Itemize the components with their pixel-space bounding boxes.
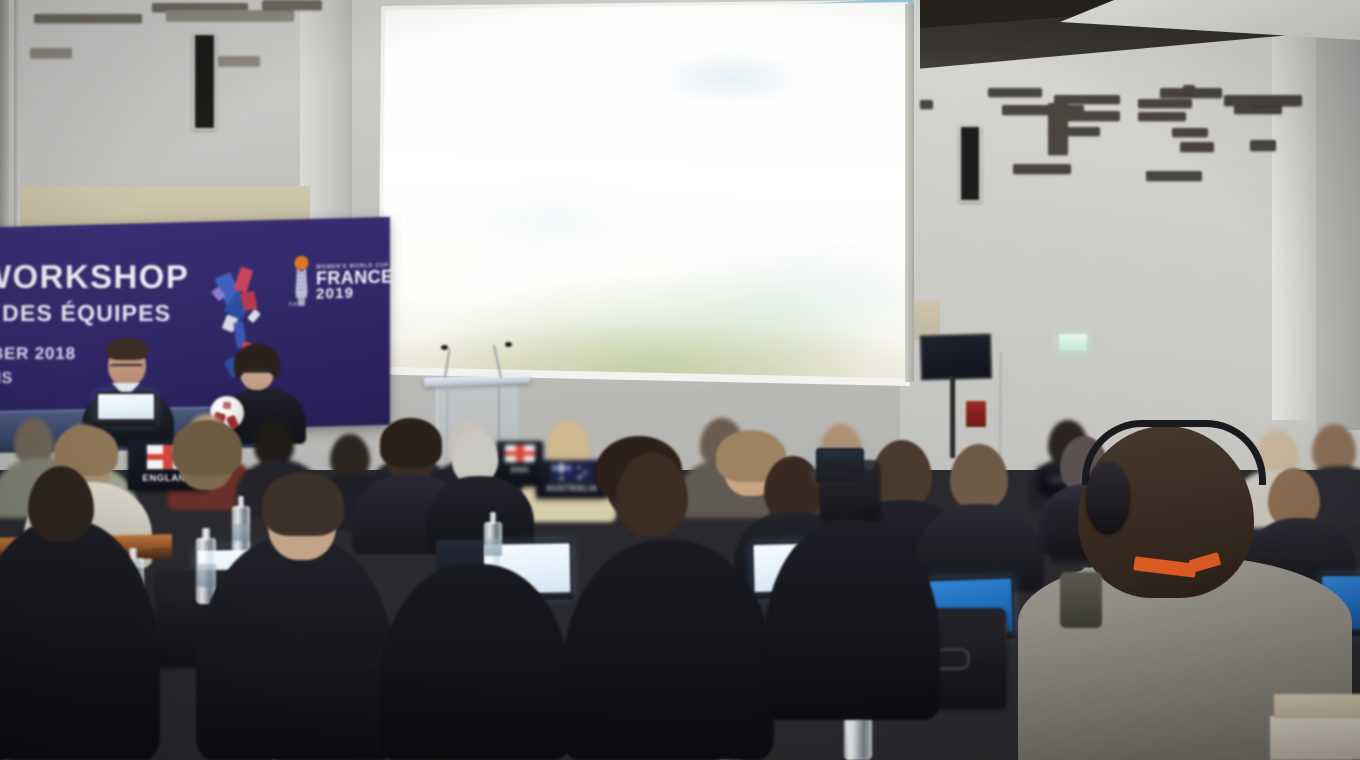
logo-fifa-mark: FIFA <box>289 302 302 308</box>
england-flag-icon <box>504 444 536 463</box>
panelist-laptop <box>96 392 152 420</box>
attendee-torso <box>426 476 534 550</box>
acoustic-bar <box>262 0 322 10</box>
flag-star <box>582 474 584 476</box>
projection-screen-image <box>382 2 908 384</box>
acoustic-bar <box>1146 171 1202 181</box>
acoustic-bar <box>988 88 1042 97</box>
acoustic-bar <box>1250 140 1276 151</box>
wwc-france-2019-logo: WOMEN'S WORLD CUP FRANCE 2019 FIFA <box>288 255 388 320</box>
panelist-male-glasses <box>110 364 143 372</box>
panelist-female-glasses <box>242 368 272 376</box>
monitor-stand <box>950 376 955 458</box>
laptop-base <box>93 419 156 426</box>
attendee-hair <box>172 420 242 476</box>
placard-label: AUSTRALIA <box>546 485 598 493</box>
acoustic-bar <box>218 56 260 66</box>
wall-speaker-left <box>193 33 216 130</box>
flag-star <box>578 466 581 469</box>
acoustic-bar <box>1060 111 1120 121</box>
acoustic-bar <box>1172 128 1208 137</box>
acoustic-bar <box>1180 142 1214 152</box>
banner-title: WORKSHOP <box>0 258 189 296</box>
banner-city: RIS <box>0 370 13 388</box>
microphone-head <box>441 345 448 350</box>
far-right-wall <box>1316 0 1360 430</box>
union-jack-canton <box>552 463 571 473</box>
door-frame <box>1000 352 1001 462</box>
headphones-earcup-icon <box>1086 462 1130 534</box>
acoustic-bar-vertical <box>1048 103 1068 155</box>
acoustic-bar <box>30 48 72 58</box>
acoustic-bar <box>1013 164 1071 174</box>
bottle-label <box>232 524 250 541</box>
acoustic-bar <box>34 14 142 23</box>
desk-surface-foreground <box>1270 716 1360 760</box>
confidence-monitor <box>919 333 992 381</box>
wall-speaker-right <box>959 125 981 202</box>
projection-screen-right-edge <box>905 4 914 382</box>
flag-star <box>578 476 581 479</box>
microphone-head <box>505 342 512 347</box>
water-bottle <box>484 512 502 568</box>
australia-flag-icon <box>551 462 593 483</box>
emergency-exit-sign <box>1057 332 1089 353</box>
event-banner: WORKSHOP E DES ÉQUIPES MBER 2018 RIS <box>0 217 390 435</box>
bottle-label <box>484 539 502 556</box>
ball-panel <box>223 401 232 409</box>
panelist-male-hair <box>106 338 148 360</box>
flag-star <box>560 477 563 480</box>
acoustic-bar <box>1183 85 1195 94</box>
desk-surface-foreground-back <box>1274 694 1360 718</box>
banner-graphic-shard <box>234 267 254 294</box>
banner-graphic-shard <box>240 291 257 312</box>
banner-graphic-shard <box>247 309 261 323</box>
acoustic-bar <box>166 10 294 21</box>
logo-year: 2019 <box>316 287 354 302</box>
fire-alarm-box <box>965 400 987 428</box>
bottle-body <box>844 718 872 760</box>
water-bottle <box>232 496 250 554</box>
banner-subtitle: E DES ÉQUIPES <box>0 300 171 327</box>
banner-date: MBER 2018 <box>0 344 76 364</box>
acoustic-bar <box>1138 99 1192 108</box>
placard-label: ENG <box>511 466 529 474</box>
acoustic-bar <box>1138 112 1186 121</box>
right-wall-edge <box>1272 0 1318 420</box>
acoustic-bar <box>1252 96 1298 106</box>
foreground-person-hand <box>1060 572 1102 628</box>
conference-hall-photo: WORKSHOP E DES ÉQUIPES MBER 2018 RIS <box>0 0 1360 760</box>
attendee-hair-near <box>262 472 344 536</box>
bottle-label <box>196 564 216 587</box>
chair-back <box>820 460 880 520</box>
acoustic-bar <box>920 100 933 109</box>
flag-star <box>584 471 587 474</box>
attendee-hair <box>380 418 442 468</box>
